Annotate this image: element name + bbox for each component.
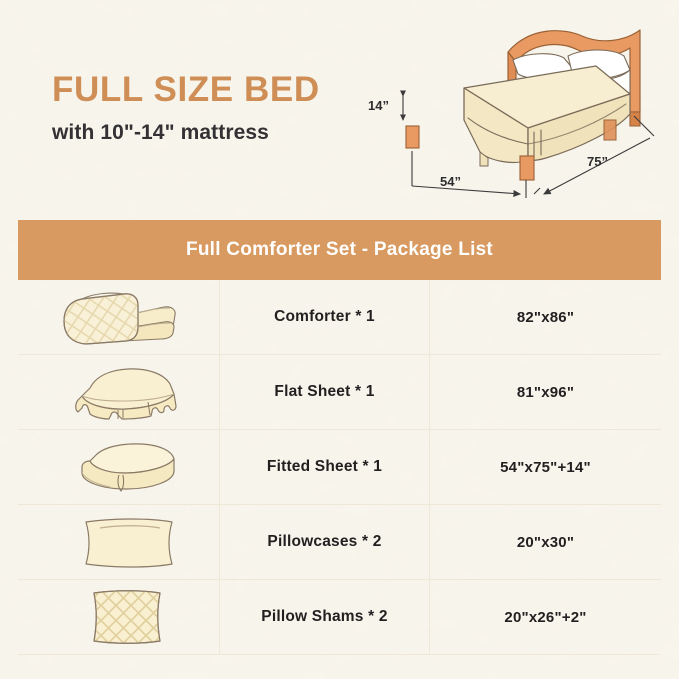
item-name: Pillow Shams * 2 xyxy=(261,608,387,626)
table-row: Pillow Shams * 2 20"x26"+2" xyxy=(18,580,661,655)
hero-section: FULL SIZE BED with 10"-14" mattress .ln … xyxy=(0,0,679,215)
table-row: Flat Sheet * 1 81"x96" xyxy=(18,355,661,430)
table-cell-icon xyxy=(18,430,220,504)
table-cell-item: Fitted Sheet * 1 xyxy=(220,430,430,504)
table-row: Comforter * 1 82"x86" xyxy=(18,280,661,355)
item-size: 81"x96" xyxy=(517,384,574,401)
table-cell-size: 54"x75"+14" xyxy=(430,430,661,504)
table-cell-icon xyxy=(18,280,220,354)
table-cell-size: 20"x30" xyxy=(430,505,661,579)
table-cell-item: Flat Sheet * 1 xyxy=(220,355,430,429)
table-cell-item: Comforter * 1 xyxy=(220,280,430,354)
table-cell-icon xyxy=(18,580,220,654)
package-list-table: Full Comforter Set - Package List xyxy=(18,220,661,655)
table-header-title: Full Comforter Set - Package List xyxy=(186,239,493,261)
table-cell-size: 82"x86" xyxy=(430,280,661,354)
pillow-sham-icon xyxy=(56,583,182,651)
flat-sheet-icon xyxy=(56,358,182,426)
table-row: Fitted Sheet * 1 54"x75"+14" xyxy=(18,430,661,505)
item-size: 20"x30" xyxy=(517,534,574,551)
item-size: 82"x86" xyxy=(517,309,574,326)
table-cell-item: Pillowcases * 2 xyxy=(220,505,430,579)
fitted-sheet-icon xyxy=(56,433,182,501)
item-size: 20"x26"+2" xyxy=(504,609,586,626)
page-subtitle: with 10"-14" mattress xyxy=(52,121,382,145)
full-size-bed-illustration: .ln { fill:none; stroke:#7a6a58; stroke-… xyxy=(368,8,672,208)
item-name: Fitted Sheet * 1 xyxy=(267,458,382,476)
page-title: FULL SIZE BED xyxy=(52,72,382,108)
folded-comforter-icon xyxy=(56,283,182,351)
item-size: 54"x75"+14" xyxy=(500,459,591,476)
infographic-page: FULL SIZE BED with 10"-14" mattress .ln … xyxy=(0,0,679,679)
item-name: Pillowcases * 2 xyxy=(267,533,381,551)
table-row: Pillowcases * 2 20"x30" xyxy=(18,505,661,580)
table-body: Comforter * 1 82"x86" xyxy=(18,280,661,655)
table-cell-icon xyxy=(18,355,220,429)
table-header-bar: Full Comforter Set - Package List xyxy=(18,220,661,280)
table-cell-size: 81"x96" xyxy=(430,355,661,429)
item-name: Comforter * 1 xyxy=(274,308,375,326)
dimension-height: 14” xyxy=(368,96,403,120)
table-cell-size: 20"x26"+2" xyxy=(430,580,661,654)
title-block: FULL SIZE BED with 10"-14" mattress xyxy=(52,72,382,145)
table-cell-item: Pillow Shams * 2 xyxy=(220,580,430,654)
dimension-length-label: 75” xyxy=(587,154,608,169)
bed-comforter xyxy=(464,66,630,162)
item-name: Flat Sheet * 1 xyxy=(274,383,374,401)
table-cell-icon xyxy=(18,505,220,579)
dimension-width-label: 54” xyxy=(440,174,461,189)
pillowcase-icon xyxy=(56,508,182,576)
dimension-height-label: 14” xyxy=(368,98,389,113)
